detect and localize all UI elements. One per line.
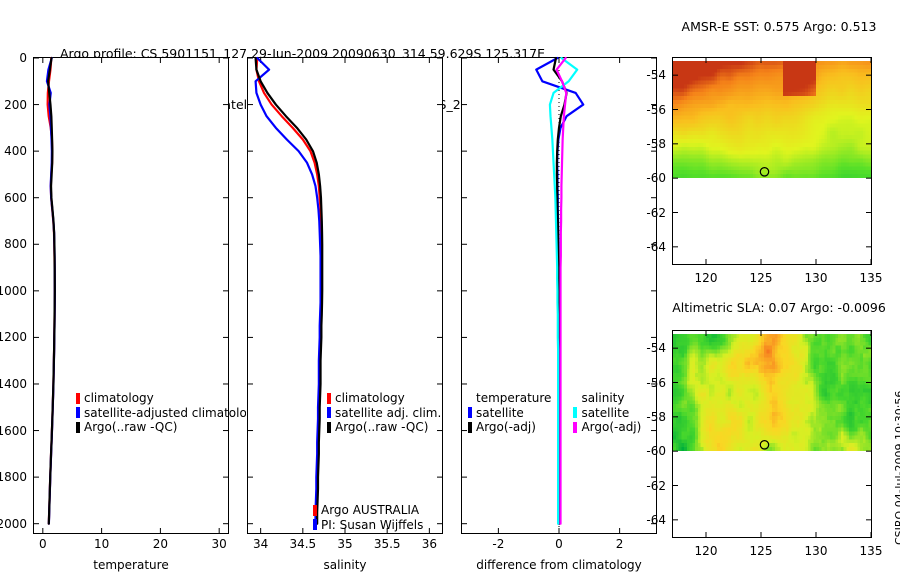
temperature-ytick: 0: [0, 51, 27, 65]
salinity-xtick: 35: [337, 537, 352, 551]
argo-position-marker: [760, 168, 768, 176]
temperature-xtick: 10: [94, 537, 109, 551]
salinity-plot-lines: [248, 58, 442, 533]
ax-sla-xtick: 130: [805, 544, 828, 558]
sst-map-axes: [672, 57, 872, 265]
ax-sst-ytick: -62: [600, 206, 666, 220]
credit-pi-row: PI: Susan Wijffels: [313, 518, 423, 533]
credit-org-row: Argo AUSTRALIA: [313, 503, 423, 518]
legend-item: Argo(-adj): [468, 420, 551, 435]
sla-map-axes: [672, 330, 872, 538]
ax-sst-ytick: -56: [600, 103, 666, 117]
legend-swatch: [573, 407, 577, 418]
series-climatology: [256, 58, 321, 524]
salinity-xtick: 36: [422, 537, 437, 551]
difference-xtick: 0: [555, 537, 563, 551]
ax-sst-xtick: 120: [695, 271, 718, 285]
legend-swatch: [468, 407, 472, 418]
legend-label: satellite adj. clim.: [335, 406, 441, 421]
ax-sst-ytick: -58: [600, 137, 666, 151]
difference-xlabel: difference from climatology: [476, 558, 642, 572]
ax-sst-xtick: 125: [750, 271, 773, 285]
credit-swatch-red: [313, 505, 317, 516]
legend-label: climatology: [84, 391, 154, 406]
legend-label: climatology: [335, 391, 405, 406]
legend-swatch: [76, 407, 80, 418]
legend-item: climatology: [327, 391, 441, 406]
temperature-ytick: 1000: [0, 284, 27, 298]
tick-marks: [673, 58, 871, 264]
csiro-timestamp: CSIRO 04-Jul-2009 10:30:56: [893, 391, 900, 545]
ax-sla-xtick: 135: [860, 544, 883, 558]
ax-sst-ytick: -64: [600, 240, 666, 254]
temperature-xtick: 30: [212, 537, 227, 551]
series-argo-raw-qc-: [256, 58, 323, 524]
ax-sst-ytick: -54: [600, 68, 666, 82]
legend-item: satellite adj. clim.: [327, 406, 441, 421]
salinity-axes: [247, 57, 443, 534]
sla-map-marker: [673, 331, 871, 537]
salinity-xtick: 34: [253, 537, 268, 551]
temperature-legend: climatologysatellite-adjusted climatolog…: [76, 391, 246, 435]
ax-sla-ytick: -58: [600, 410, 666, 424]
salinity-legend: climatologysatellite adj. clim.Argo(..ra…: [327, 391, 441, 435]
temperature-ytick: 1400: [0, 377, 27, 391]
legend-label: satellite: [476, 406, 524, 421]
series-satellite-adj-clim-: [256, 58, 321, 524]
temperature-xtick: 0: [39, 537, 47, 551]
difference-xtick: -2: [492, 537, 504, 551]
argo-position-marker: [760, 441, 768, 449]
ax-sst-xtick: 130: [805, 271, 828, 285]
legend-swatch: [327, 407, 331, 418]
credit-swatch-blue: [313, 519, 317, 530]
legend-swatch: [573, 422, 577, 433]
temperature-plot-lines: [34, 58, 228, 533]
legend-swatch: [327, 393, 331, 404]
temperature-ytick: 1200: [0, 330, 27, 344]
difference-xtick: 2: [616, 537, 624, 551]
salinity-xtick: 34.5: [289, 537, 316, 551]
temperature-ytick: 600: [0, 191, 27, 205]
legend-item: satellite: [468, 406, 551, 421]
difference-axes: [461, 57, 657, 534]
tick-marks: [34, 58, 228, 533]
temperature-ytick: 400: [0, 144, 27, 158]
ax-sla-ytick: -62: [600, 479, 666, 493]
legend-swatch: [76, 422, 80, 433]
legend-item: Argo(..raw -QC): [76, 420, 246, 435]
legend-label: Argo(..raw -QC): [84, 420, 177, 435]
salinity-xlabel: salinity: [323, 558, 366, 572]
temperature-axes: [33, 57, 229, 534]
legend-swatch: [327, 422, 331, 433]
ax-sla-xtick: 120: [695, 544, 718, 558]
ax-sla-ytick: -54: [600, 341, 666, 355]
tick-marks: [673, 331, 871, 537]
ax-sla-ytick: -60: [600, 444, 666, 458]
legend-item: climatology: [76, 391, 246, 406]
ax-sla-ytick: -56: [600, 376, 666, 390]
temperature-xlabel: temperature: [93, 558, 168, 572]
ax-sla-ytick: -64: [600, 513, 666, 527]
temperature-ytick: 200: [0, 98, 27, 112]
legend-swatch: [76, 393, 80, 404]
temperature-ytick: 800: [0, 237, 27, 251]
credit-block: Argo AUSTRALIA PI: Susan Wijffels: [313, 503, 423, 532]
credit-org: Argo AUSTRALIA: [321, 503, 419, 518]
temperature-ytick: 1600: [0, 424, 27, 438]
legend-swatch: [468, 422, 472, 433]
difference-legend-temperature-heading: temperature: [468, 391, 551, 406]
sst-map-marker: [673, 58, 871, 264]
salinity-xtick: 35.5: [374, 537, 401, 551]
temperature-xtick: 20: [153, 537, 168, 551]
legend-label: satellite-adjusted climatology: [84, 406, 246, 421]
series-argo-raw-qc-: [48, 58, 55, 524]
temperature-ytick: 2000: [0, 517, 27, 531]
difference-legend-temperature: temperature satelliteArgo(-adj): [468, 391, 551, 435]
legend-item: satellite-adjusted climatology: [76, 406, 246, 421]
legend-item: Argo(..raw -QC): [327, 420, 441, 435]
sla-map-title: Altimetric SLA: 0.07 Argo: -0.0096: [672, 300, 886, 315]
temperature-ytick: 1800: [0, 470, 27, 484]
difference-plot-lines: [462, 58, 656, 533]
ax-sla-xtick: 125: [750, 544, 773, 558]
difference-legend-temperature-items: satelliteArgo(-adj): [468, 406, 551, 435]
credit-pi: PI: Susan Wijffels: [321, 518, 423, 533]
ax-sst-ytick: -60: [600, 171, 666, 185]
sst-map-title: AMSR-E SST: 0.575 Argo: 0.513: [682, 19, 877, 34]
legend-label: Argo(..raw -QC): [335, 420, 428, 435]
ax-sst-xtick: 135: [860, 271, 883, 285]
legend-label: Argo(-adj): [476, 420, 536, 435]
figure-canvas: Argo profile: CS 5901151_127 29-Jun-2009…: [0, 0, 900, 580]
difference-legend-salinity-heading: salinity: [573, 391, 641, 406]
